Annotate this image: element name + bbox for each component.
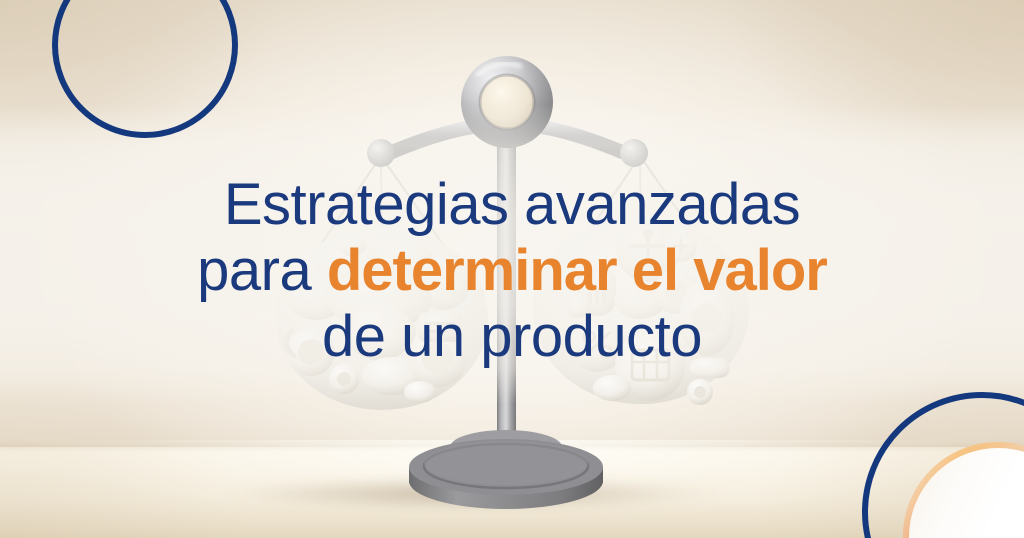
hero-banner: Estrategias avanzadas para determinar el… (0, 0, 1024, 538)
headline-accent-text: determinar el valor (327, 238, 827, 303)
headline-block: Estrategias avanzadas para determinar el… (0, 176, 1024, 366)
right-arm-ball (620, 139, 648, 167)
headline-line-1: Estrategias avanzadas (0, 176, 1024, 234)
scale-base (409, 430, 603, 509)
headline-line-2-prefix: para (197, 238, 327, 303)
left-arm-ball (367, 139, 395, 167)
headline-line-2: para determinar el valor (0, 242, 1024, 300)
headline-line-3: de un producto (0, 308, 1024, 366)
